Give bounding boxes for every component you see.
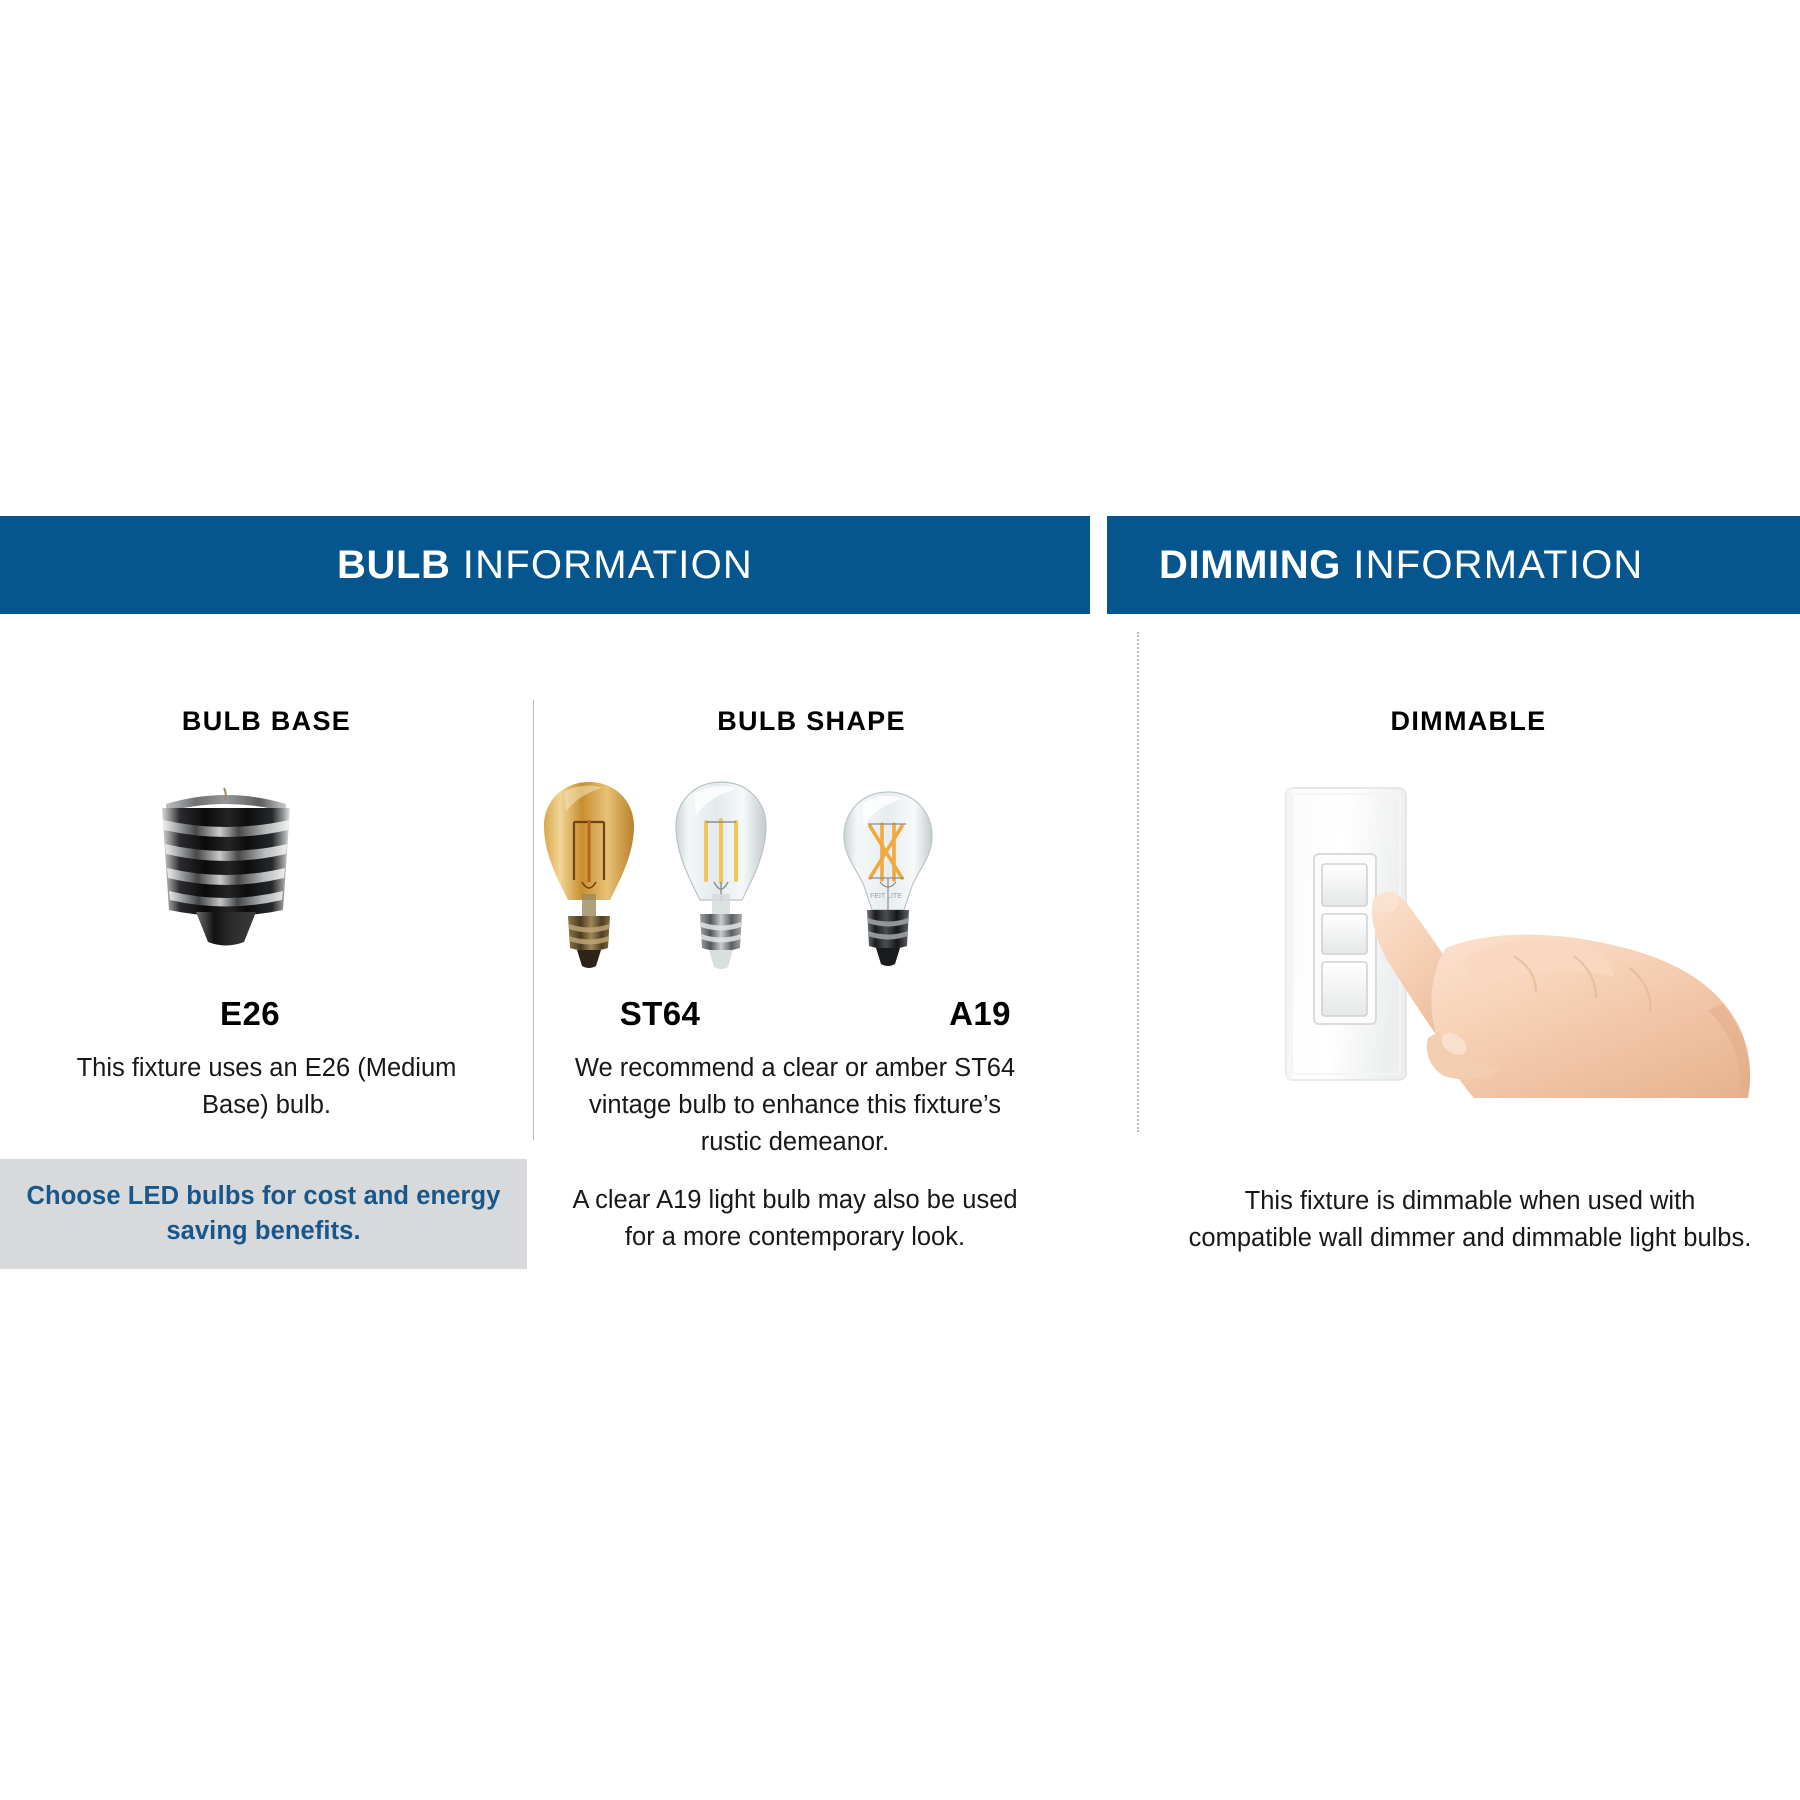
e26-screw-base-image bbox=[152, 782, 300, 947]
a19-label: A19 bbox=[880, 995, 1080, 1033]
dimming-information-title-light: INFORMATION bbox=[1341, 543, 1644, 587]
svg-text:FEIT LITE: FEIT LITE bbox=[870, 893, 902, 900]
led-bulb-callout: Choose LED bulbs for cost and energy sav… bbox=[0, 1159, 527, 1269]
dimmable-heading: DIMMABLE bbox=[1137, 706, 1800, 737]
wall-dimmer-with-hand-image bbox=[1278, 780, 1778, 1100]
e26-label: E26 bbox=[150, 995, 350, 1033]
st64-label: ST64 bbox=[560, 995, 760, 1033]
dimming-information-title-bold: DIMMING bbox=[1159, 543, 1341, 587]
bulb-information-title: BULB INFORMATION bbox=[337, 543, 753, 588]
clear-a19-bulb-image: FEIT LITE bbox=[828, 786, 948, 976]
clear-st64-bulb-image bbox=[656, 776, 786, 976]
bulb-base-heading: BULB BASE bbox=[0, 706, 533, 737]
dimming-information-title: DIMMING INFORMATION bbox=[1159, 543, 1644, 588]
dimmable-description: This fixture is dimmable when used with … bbox=[1185, 1183, 1755, 1257]
bulb-shape-description-1: We recommend a clear or amber ST64 vinta… bbox=[560, 1050, 1030, 1161]
dimming-information-band: DIMMING INFORMATION bbox=[1107, 516, 1800, 614]
amber-st64-bulb-image bbox=[524, 776, 654, 976]
bulb-information-title-light: INFORMATION bbox=[450, 543, 753, 587]
bulb-information-band: BULB INFORMATION bbox=[0, 516, 1090, 614]
led-bulb-callout-text: Choose LED bulbs for cost and energy sav… bbox=[0, 1179, 527, 1249]
bulb-shape-description-2: A clear A19 light bulb may also be used … bbox=[560, 1182, 1030, 1256]
bulb-information-title-bold: BULB bbox=[337, 543, 451, 587]
bulb-shape-heading: BULB SHAPE bbox=[533, 706, 1090, 737]
bulb-base-description: This fixture uses an E26 (Medium Base) b… bbox=[40, 1050, 493, 1124]
infographic-canvas: BULB INFORMATION DIMMING INFORMATION BUL… bbox=[0, 0, 1800, 1800]
